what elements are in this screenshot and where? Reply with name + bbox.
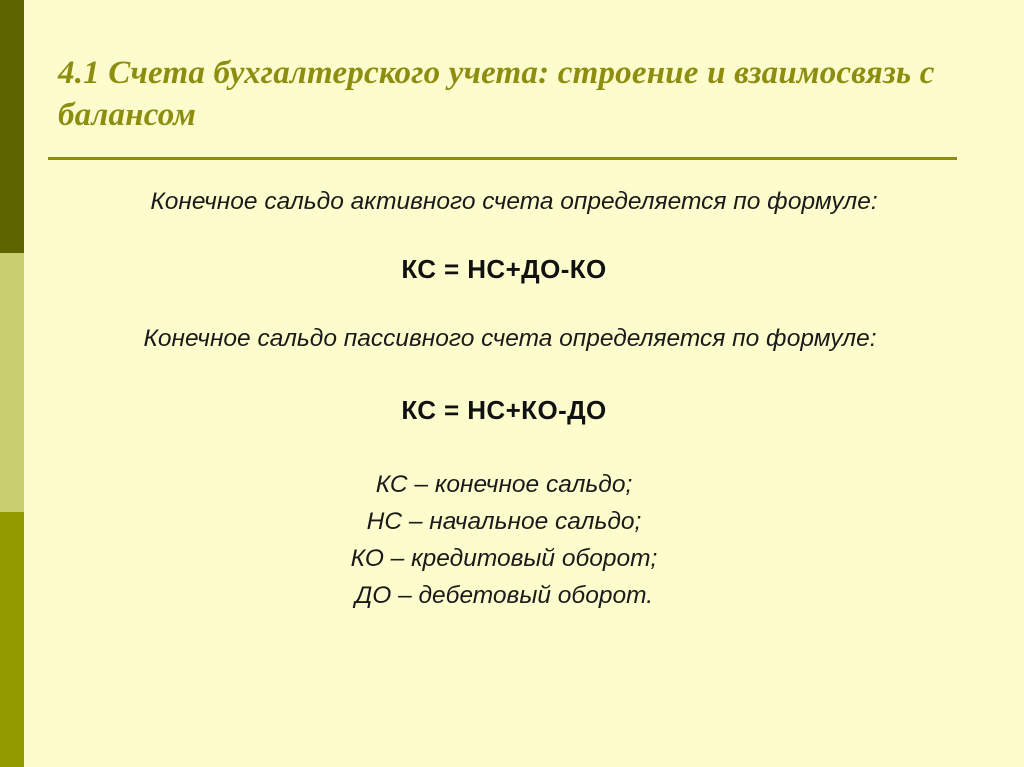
- legend-item: КО – кредитовый оборот;: [24, 540, 984, 577]
- slide-body: Конечное сальдо активного счета определя…: [24, 170, 1024, 760]
- sidebar-band-bottom: [0, 512, 24, 767]
- legend-item: КС – конечное сальдо;: [24, 466, 984, 503]
- active-account-intro: Конечное сальдо активного счета определя…: [34, 187, 994, 217]
- sidebar-band-middle: [0, 253, 24, 512]
- legend-item: НС – начальное сальдо;: [24, 503, 984, 540]
- slide-title: 4.1 Счета бухгалтерского учета: строение…: [58, 52, 958, 136]
- sidebar-band-top: [0, 0, 24, 253]
- abbreviation-legend: КС – конечное сальдо; НС – начальное сал…: [24, 466, 984, 614]
- title-divider: [48, 157, 957, 160]
- active-account-formula: КС = НС+ДО-КО: [24, 253, 984, 285]
- passive-account-formula: КС = НС+КО-ДО: [24, 394, 984, 426]
- decorative-sidebar: [0, 0, 24, 767]
- legend-item: ДО – дебетовый оборот.: [24, 577, 984, 614]
- passive-account-intro: Конечное сальдо пассивного счета определ…: [30, 324, 990, 354]
- slide-canvas: 4.1 Счета бухгалтерского учета: строение…: [0, 0, 1024, 767]
